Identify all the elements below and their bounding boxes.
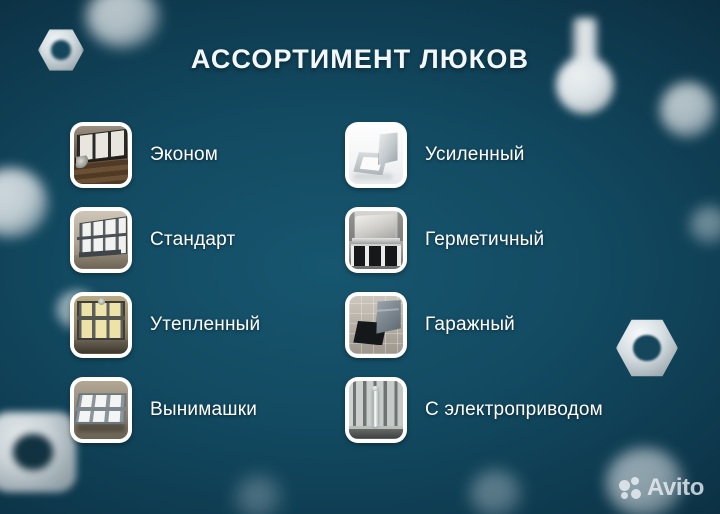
list-item-label: Эконом [150, 144, 218, 166]
promo-poster: АССОРТИМЕНТ ЛЮКОВ Эконом Усиленный [0, 0, 720, 514]
list-item-label: Герметичный [425, 229, 544, 251]
list-item[interactable]: Эконом [70, 112, 345, 197]
list-item[interactable]: Герметичный [345, 197, 705, 282]
list-item-label: С электроприводом [425, 399, 603, 421]
list-item-label: Вынимашки [150, 399, 257, 421]
blurred-blob-icon [236, 476, 282, 514]
list-item[interactable]: Утепленный [70, 282, 345, 367]
list-item-label: Гаражный [425, 314, 515, 336]
avito-watermark: Avito [619, 476, 704, 500]
hatch-removable-thumbnail[interactable] [70, 377, 132, 443]
avito-brand-text: Avito [647, 476, 704, 500]
list-item[interactable]: Вынимашки [70, 367, 345, 452]
hatch-econom-thumbnail[interactable] [70, 122, 132, 188]
hatch-reinforced-thumbnail[interactable] [345, 122, 407, 188]
hatch-insulated-thumbnail[interactable] [70, 292, 132, 358]
blurred-bolt-icon [86, 0, 160, 48]
page-title: АССОРТИМЕНТ ЛЮКОВ [0, 44, 720, 75]
hatch-garage-thumbnail[interactable] [345, 292, 407, 358]
list-item-label: Утепленный [150, 314, 260, 336]
list-item[interactable]: С электроприводом [345, 367, 705, 452]
hatch-standard-thumbnail[interactable] [70, 207, 132, 273]
avito-dots-logo-icon [619, 477, 642, 500]
list-item[interactable]: Стандарт [70, 197, 345, 282]
list-item[interactable]: Гаражный [345, 282, 705, 367]
hatch-electric-drive-thumbnail[interactable] [345, 377, 407, 443]
product-grid: Эконом Усиленный Стандарт [0, 112, 720, 472]
list-item[interactable]: Усиленный [345, 112, 705, 197]
list-item-label: Усиленный [425, 144, 525, 166]
list-item-label: Стандарт [150, 229, 235, 251]
hatch-sealed-thumbnail[interactable] [345, 207, 407, 273]
blurred-blob-icon [470, 470, 522, 514]
